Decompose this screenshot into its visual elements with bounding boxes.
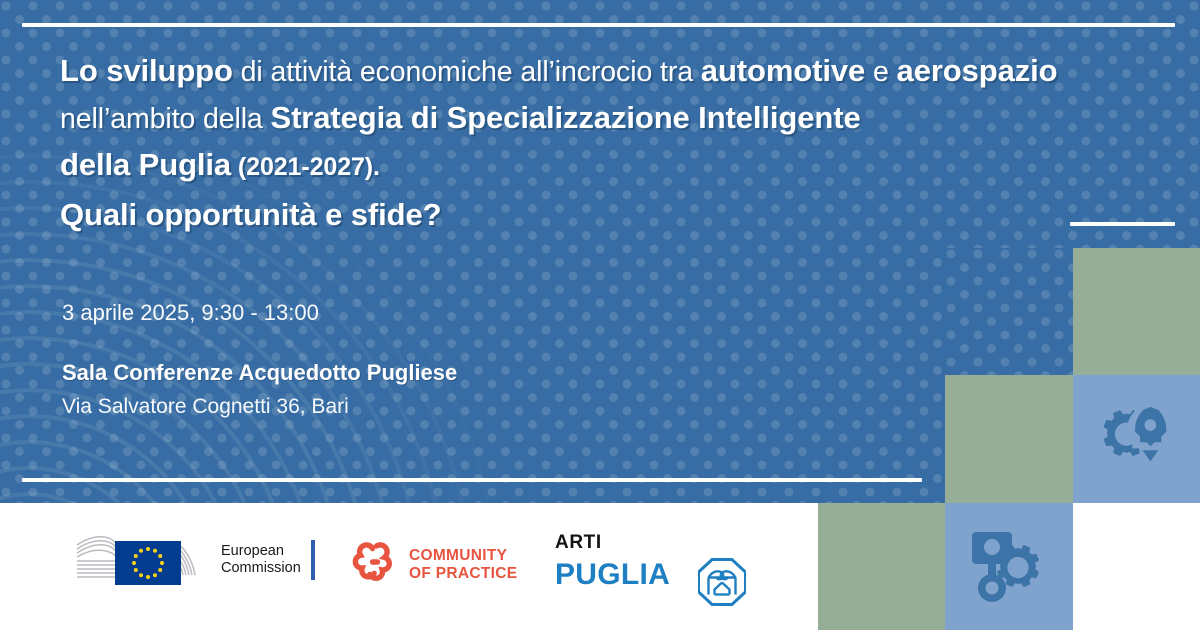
- logo-arti-puglia: ARTI PUGLIA: [555, 532, 670, 592]
- page-title: Lo sviluppo di attività economiche all’i…: [60, 48, 1130, 239]
- title-line-4: Quali opportunità e sfide?: [60, 192, 1130, 239]
- ec-line-1: European: [221, 543, 301, 560]
- arti-line-1: ARTI: [555, 532, 602, 554]
- logo-s3-community-of-practice: COMMUNITY OF PRACTICE: [352, 540, 517, 589]
- event-address: Via Salvatore Cognetti 36, Bari: [62, 392, 457, 422]
- logo-european-commission-text: European Commission: [221, 543, 301, 577]
- event-details: 3 aprile 2025, 9:30 - 13:00 Sala Confere…: [62, 298, 457, 422]
- title-seg-bold: sviluppo: [106, 53, 233, 88]
- bottom-rule: [22, 478, 922, 482]
- title-line-1: Lo sviluppo di attività economiche all’i…: [60, 48, 1130, 95]
- title-line-3: della Puglia (2021-2027).: [60, 142, 1130, 190]
- ec-line-2: Commission: [221, 560, 301, 577]
- dot-pattern-texture: [945, 248, 1073, 375]
- event-venue: Sala Conferenze Acquedotto Pugliese: [62, 358, 457, 388]
- title-seg: Lo: [60, 53, 106, 88]
- logo-s3-text: COMMUNITY OF PRACTICE: [409, 547, 517, 583]
- title-seg-period: (2021-2027).: [231, 153, 380, 181]
- title-question: Quali opportunità e sfide?: [60, 197, 441, 232]
- top-rule: [22, 23, 1175, 27]
- gear-rocket-icon: [1073, 375, 1200, 503]
- blue-background-mid-strip: [945, 248, 1073, 375]
- logo-european-commission: European Commission: [75, 532, 315, 588]
- event-poster: Lo sviluppo di attività economiche all’i…: [0, 0, 1200, 630]
- title-seg: di attività economiche all’incrocio tra: [233, 56, 701, 88]
- event-date: 3 aprile 2025, 9:30 - 13:00: [62, 298, 457, 328]
- arti-line-2: PUGLIA: [555, 558, 670, 592]
- s3-cloud-mark-icon: [352, 540, 400, 589]
- title-seg-bold: automotive: [701, 53, 865, 88]
- regione-puglia-octagon-icon: [698, 558, 746, 606]
- decor-square-green: [945, 375, 1073, 503]
- title-seg-bold: Strategia di Specializzazione Intelligen…: [271, 100, 861, 135]
- decor-square-green: [818, 503, 945, 630]
- decor-square-green: [1073, 248, 1200, 375]
- s3-line-1: COMMUNITY: [409, 547, 517, 565]
- s3-line-2: OF PRACTICE: [409, 565, 517, 583]
- ec-divider-bar: [311, 540, 315, 580]
- title-seg: e: [865, 56, 896, 88]
- piston-gear-icon: [945, 503, 1073, 630]
- eu-flag-icon: [75, 532, 215, 588]
- title-line-2: nell’ambito della Strategia di Specializ…: [60, 95, 1130, 142]
- title-seg: nell’ambito della: [60, 103, 271, 135]
- title-seg-bold: aerospazio: [897, 53, 1058, 88]
- title-seg-bold: della Puglia: [60, 147, 231, 182]
